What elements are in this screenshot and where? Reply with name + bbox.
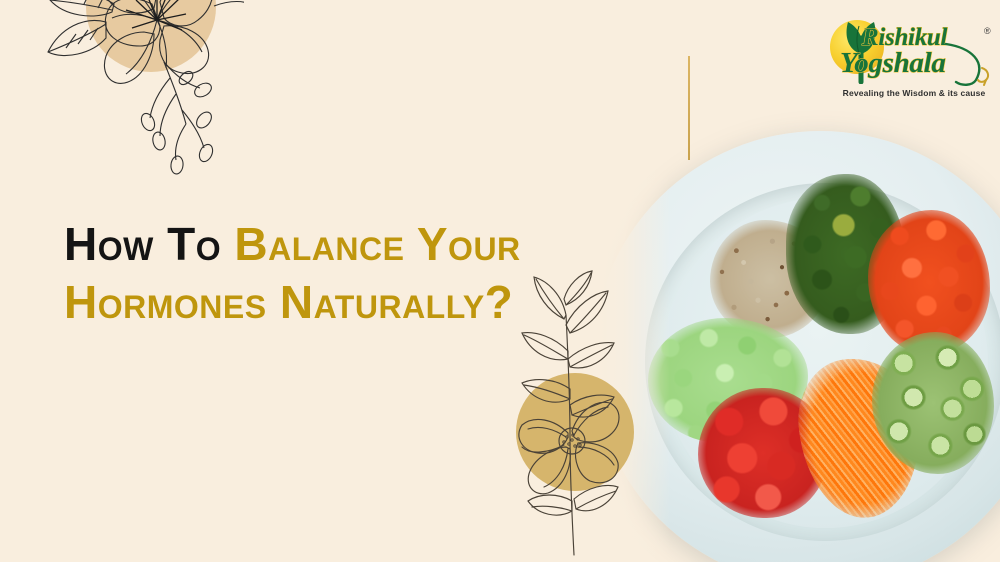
logo-tagline: Revealing the Wisdom & its cause bbox=[834, 88, 994, 98]
page-title-part-dark: How To bbox=[64, 218, 234, 270]
brand-logo[interactable]: Rishikul Yogshala ® Revealing the Wisdom… bbox=[824, 14, 992, 106]
page-title-line-1: How To Balance Your bbox=[64, 215, 534, 273]
page-title-line-2: Hormones Naturally? bbox=[64, 273, 534, 331]
swoosh-icon bbox=[942, 42, 994, 86]
blog-banner: How To Balance Your Hormones Naturally? … bbox=[0, 0, 1000, 562]
page-title: How To Balance Your Hormones Naturally? bbox=[64, 215, 534, 331]
decor-flower-top-left bbox=[14, 0, 244, 192]
flower-line-art-icon bbox=[14, 0, 244, 192]
logo-brand-line-2: Yogshala bbox=[840, 47, 946, 80]
page-title-part-gold-1: Balance Your bbox=[234, 218, 520, 270]
gold-vertical-rule bbox=[688, 56, 690, 160]
registered-trademark-icon: ® bbox=[984, 26, 991, 36]
